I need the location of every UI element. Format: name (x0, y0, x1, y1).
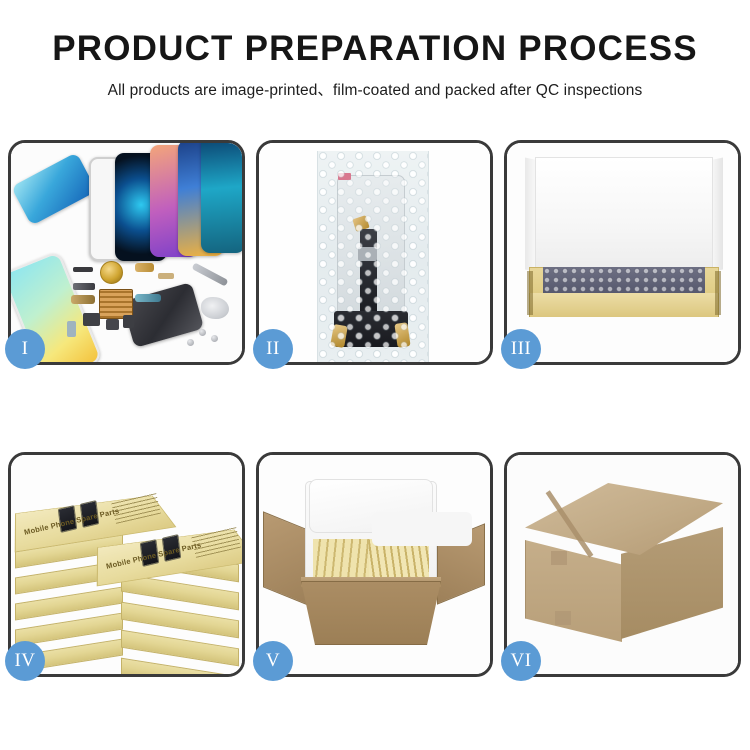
step-badge: VI (501, 641, 541, 681)
spare-part-icon (123, 315, 134, 328)
panel-4-image: Mobile Phone Spare Parts Mobile Phone Sp… (11, 455, 242, 674)
screw-icon (211, 335, 218, 342)
spare-part-icon (158, 273, 174, 279)
carton-with-cooler-photo (259, 455, 490, 674)
sealed-carton-photo (507, 455, 738, 674)
product-preparation-infographic: PRODUCT PREPARATION PROCESS All products… (0, 0, 750, 750)
step-badge: IV (5, 641, 45, 681)
panel-6-image (507, 455, 738, 674)
page-subtitle: All products are image-printed、film-coat… (0, 78, 750, 100)
speaker-coil-icon (100, 261, 123, 284)
header: PRODUCT PREPARATION PROCESS All products… (0, 0, 750, 100)
spare-part-icon (73, 267, 93, 272)
stacked-boxes-photo: Mobile Phone Spare Parts Mobile Phone Sp… (11, 455, 242, 674)
carton-tape-icon (555, 611, 571, 625)
panel-2-image (259, 143, 490, 362)
box-stack: Mobile Phone Spare Parts Mobile Phone Sp… (11, 473, 242, 673)
step-badge: III (501, 329, 541, 369)
bubble-texture-overlay (318, 151, 428, 362)
bubble-wrapped-lcd-photo (259, 143, 490, 362)
step-badge: I (5, 329, 45, 369)
carton-body-icon (301, 581, 441, 645)
process-step-panel-6: VI (504, 452, 741, 677)
box-lid-icon (535, 157, 713, 275)
tweezers-icon (192, 262, 229, 286)
screw-icon (187, 339, 194, 346)
hand-icon (201, 297, 229, 319)
process-step-panel-4: Mobile Phone Spare Parts Mobile Phone Sp… (8, 452, 245, 677)
spare-part-icon (106, 319, 119, 330)
tray-edge-shadow (715, 271, 721, 315)
phone-parts-photo (11, 143, 242, 362)
bubble-wrap-bag (317, 151, 429, 362)
open-box-with-foam-photo (507, 143, 738, 362)
process-step-panel-5: V (256, 452, 493, 677)
spare-part-icon (73, 283, 95, 290)
phone-screen-icon (11, 152, 97, 226)
process-step-grid: I (8, 140, 742, 677)
spare-part-icon (135, 263, 154, 272)
phone-screen-icon (201, 143, 242, 253)
process-step-panel-3: III (504, 140, 741, 365)
spare-part-icon (71, 295, 95, 304)
panel-3-image (507, 143, 738, 362)
spare-part-icon (83, 313, 100, 326)
process-step-panel-2: II (256, 140, 493, 365)
process-step-panel-1: I (8, 140, 245, 365)
panel-1-image (11, 143, 242, 362)
tray-edge-shadow (527, 271, 533, 315)
carton-left-face (525, 540, 622, 642)
spare-part-icon (67, 321, 76, 337)
kraft-tray-front (529, 293, 719, 317)
foam-lid-icon (309, 479, 433, 533)
step-badge: V (253, 641, 293, 681)
phone-backplate-icon (122, 282, 204, 348)
carton-tape-icon (551, 551, 567, 565)
page-title: PRODUCT PREPARATION PROCESS (0, 30, 750, 69)
spare-part-icon (135, 294, 161, 302)
panel-5-image (259, 455, 490, 674)
screw-icon (199, 329, 206, 336)
step-badge: II (253, 329, 293, 369)
foam-lid-inner (372, 512, 472, 546)
